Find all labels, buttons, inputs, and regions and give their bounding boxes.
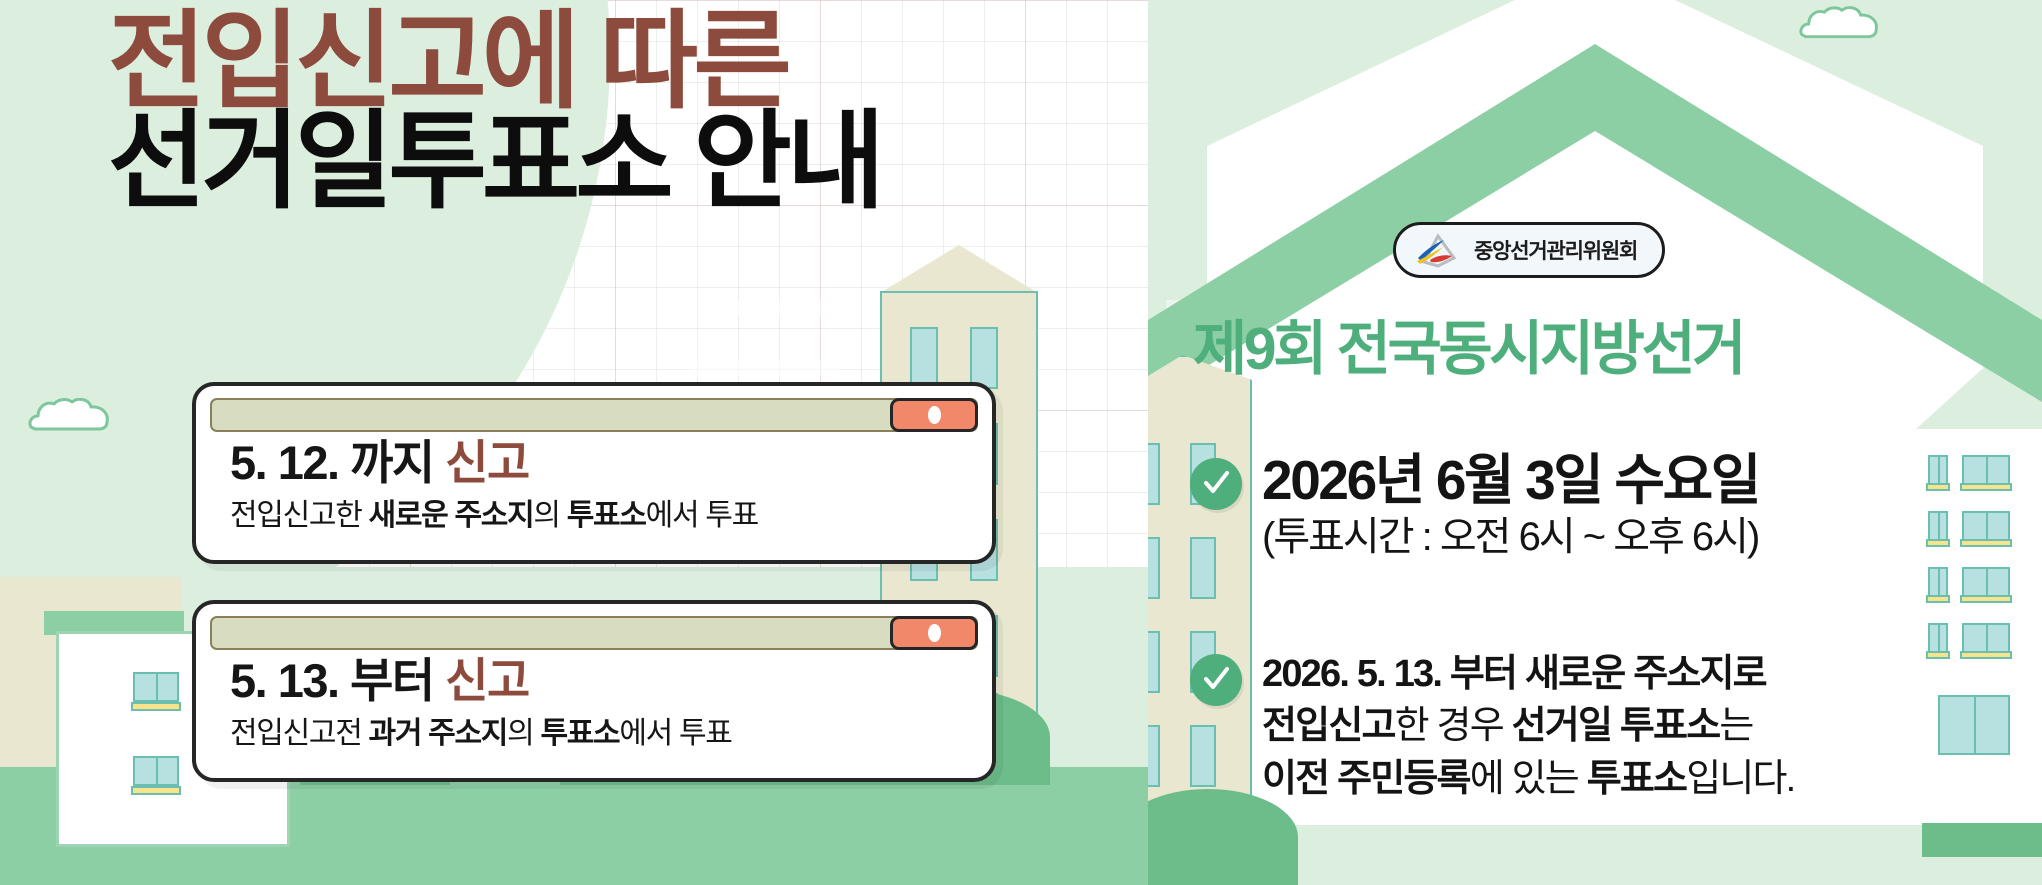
bullet-2-l2b: 한 경우: [1395, 705, 1512, 747]
house-window-sill: [131, 702, 181, 711]
election-heading: 제9회 전국동시지방선거: [1193, 320, 1743, 379]
election-date: 2026년 6월 3일 수요일: [1262, 452, 1759, 510]
bullet-election-date: 2026년 6월 3일 수요일 (투표시간 : 오전 6시 ~ 오후 6시): [1190, 452, 1759, 562]
bullet-2-line-3: 이전 주민등록에 있는 투표소입니다.: [1262, 753, 1794, 805]
bullet-2-l3d: 입니다.: [1686, 758, 1794, 800]
bullet-2-l3b: 에 있는: [1470, 758, 1587, 800]
building-window: [910, 327, 938, 389]
check-circle-icon: [1190, 654, 1242, 706]
card-1-sub-bold1: 새로운 주소지: [369, 499, 534, 532]
bullet-2-l1b: 새로운 주소지로: [1525, 653, 1766, 695]
card-1-date: 5. 12. 까지: [230, 436, 445, 489]
ghost-building-block: [730, 300, 842, 316]
ghost-building-block: [690, 360, 840, 376]
bullet-2-l3c: 투표소: [1587, 758, 1686, 800]
card-2-sub-bold2: 투표소: [540, 717, 619, 750]
card-2-accent: 신고: [445, 654, 528, 707]
headline-line-2: 선거일투표소 안내: [108, 112, 880, 212]
nec-badge: 중앙선거관리위원회: [1393, 222, 1665, 278]
check-circle-icon: [1190, 458, 1242, 510]
house-window: [133, 756, 179, 786]
poster-banner: 전입신고에 따른 선거일투표소 안내 5. 12. 까지 신고 전입신고한 새로…: [0, 0, 2042, 885]
card-1-accent: 신고: [445, 436, 528, 489]
info-card-deadline-1: 5. 12. 까지 신고 전입신고한 새로운 주소지의 투표소에서 투표: [192, 382, 996, 564]
cloud-icon: [27, 398, 113, 432]
bullet-2-line-1: 2026. 5. 13. 부터 새로운 주소지로: [1262, 648, 1794, 700]
info-card-deadline-2: 5. 13. 부터 신고 전입신고전 과거 주소지의 투표소에서 투표: [192, 600, 996, 782]
door-handle-icon: [890, 398, 978, 432]
card-1-sub-mid: 의: [533, 499, 566, 532]
door-handle-icon: [890, 616, 978, 650]
bullet-2-line-2: 전입신고한 경우 선거일 투표소는: [1262, 700, 1794, 752]
voting-hours: (투표시간 : 오전 6시 ~ 오후 6시): [1262, 512, 1759, 562]
card-1-title: 5. 12. 까지 신고: [230, 438, 529, 487]
card-2-subtitle: 전입신고전 과거 주소지의 투표소에서 투표: [230, 716, 732, 752]
house-window: [133, 672, 179, 702]
card-2-title: 5. 13. 부터 신고: [230, 656, 529, 705]
right-panel-content: 중앙선거관리위원회 제9회 전국동시지방선거 2026년 6월 3일 수요일 (…: [1148, 0, 2042, 885]
card-2-sub-pre: 전입신고전: [230, 717, 369, 750]
card-2-date: 5. 13. 부터: [230, 654, 445, 707]
card-2-sub-post: 에서 투표: [619, 717, 731, 750]
bullet-polling-station-rule: 2026. 5. 13. 부터 새로운 주소지로 전입신고한 경우 선거일 투표…: [1190, 648, 1794, 805]
bullet-2-l2c: 선거일 투표소: [1512, 705, 1720, 747]
house-window-sill: [131, 786, 181, 795]
building-roof: [880, 245, 1038, 293]
bullet-2-l1a: 2026. 5. 13. 부터: [1262, 653, 1525, 695]
card-header-bar: [210, 398, 978, 432]
card-1-subtitle: 전입신고한 새로운 주소지의 투표소에서 투표: [230, 498, 758, 534]
card-2-sub-bold1: 과거 주소지: [369, 717, 508, 750]
nec-emblem-icon: [1414, 230, 1464, 270]
card-1-sub-bold2: 투표소: [567, 499, 646, 532]
bullet-1-body: 2026년 6월 3일 수요일 (투표시간 : 오전 6시 ~ 오후 6시): [1262, 452, 1759, 562]
card-1-sub-post: 에서 투표: [646, 499, 758, 532]
card-1-sub-pre: 전입신고한: [230, 499, 369, 532]
page-title: 전입신고에 따른 선거일투표소 안내: [108, 12, 880, 211]
bullet-2-body: 2026. 5. 13. 부터 새로운 주소지로 전입신고한 경우 선거일 투표…: [1262, 648, 1794, 805]
bullet-2-l3a: 이전 주민등록: [1262, 758, 1470, 800]
nec-badge-label: 중앙선거관리위원회: [1474, 235, 1637, 265]
bullet-2-l2d: 는: [1719, 705, 1752, 747]
bullet-2-l2a: 전입신고: [1262, 705, 1395, 747]
headline-line-1: 전입신고에 따른: [108, 12, 880, 112]
card-header-bar: [210, 616, 978, 650]
building-window: [970, 327, 998, 389]
card-2-sub-mid: 의: [507, 717, 540, 750]
right-panel: 중앙선거관리위원회 제9회 전국동시지방선거 2026년 6월 3일 수요일 (…: [1148, 0, 2042, 885]
left-panel: 전입신고에 따른 선거일투표소 안내 5. 12. 까지 신고 전입신고한 새로…: [0, 0, 1148, 885]
